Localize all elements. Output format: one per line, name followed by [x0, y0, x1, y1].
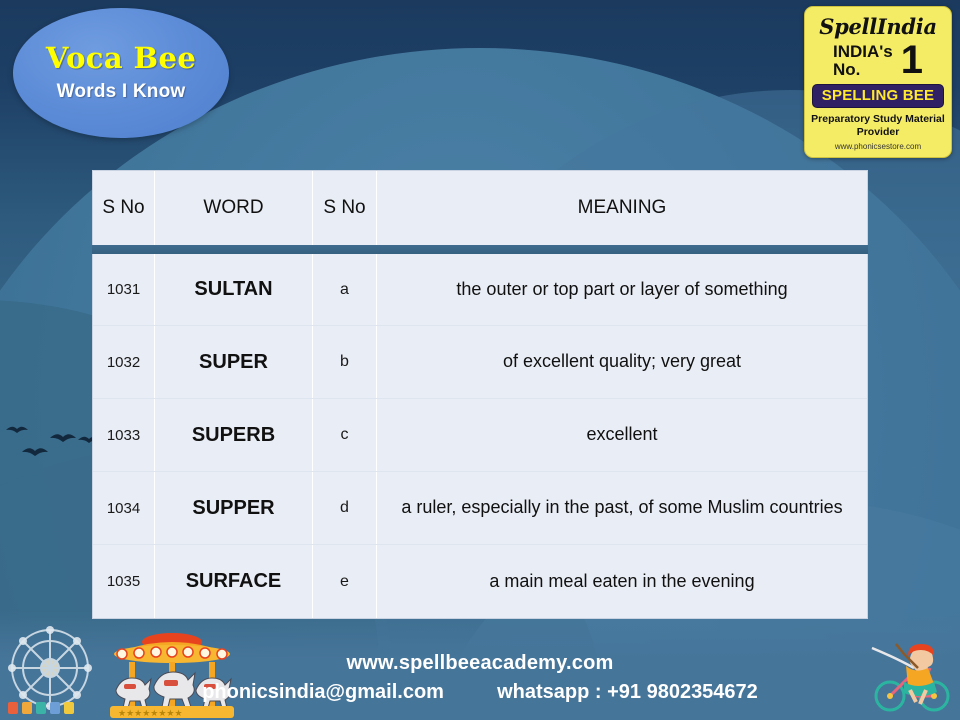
- table-row: 1031 SULTAN a the outer or top part or l…: [93, 254, 867, 326]
- badge-spelling-bee-band: SPELLING BEE: [812, 84, 944, 108]
- footer: www.spellbeeacademy.com phonicsindia@gma…: [0, 652, 960, 704]
- cell-meaning: a main meal eaten in the evening: [377, 545, 867, 618]
- svg-text:★★★★★★★★: ★★★★★★★★: [118, 709, 183, 719]
- badge-rank-number: 1: [901, 43, 923, 78]
- vocabulary-table: S No WORD S No MEANING 1031 SULTAN a the…: [92, 170, 868, 619]
- cell-word: SULTAN: [155, 254, 313, 325]
- table-row: 1034 SUPPER d a ruler, especially in the…: [93, 472, 867, 545]
- page-subtitle: Words I Know: [57, 81, 186, 103]
- cell-word: SURFACE: [155, 545, 313, 618]
- footer-website[interactable]: www.spellbeeacademy.com: [0, 652, 960, 675]
- cell-sno1: 1032: [93, 326, 155, 398]
- table-row: 1033 SUPERB c excellent: [93, 399, 867, 472]
- cell-sno1: 1031: [93, 254, 155, 325]
- table-row: 1035 SURFACE e a main meal eaten in the …: [93, 545, 867, 618]
- table-row: 1032 SUPER b of excellent quality; very …: [93, 326, 867, 399]
- column-header-sno2: S No: [313, 171, 377, 245]
- cell-sno1: 1035: [93, 545, 155, 618]
- badge-prep-text: Preparatory Study Material Provider: [811, 113, 945, 139]
- column-header-word: WORD: [155, 171, 313, 245]
- cell-meaning: of excellent quality; very great: [377, 326, 867, 398]
- badge-url: www.phonicsestore.com: [835, 142, 921, 151]
- cell-meaning: the outer or top part or layer of someth…: [377, 254, 867, 325]
- badge-rank-group: INDIA's No. 1: [810, 43, 946, 79]
- badge-brand-name: SpellIndia: [819, 16, 937, 37]
- slide-canvas: Voca Bee Words I Know SpellIndia INDIA's…: [0, 0, 960, 720]
- cell-meaning: excellent: [377, 399, 867, 471]
- cell-sno2: b: [313, 326, 377, 398]
- footer-contact-line: phonicsindia@gmail.com whatsapp : +91 98…: [0, 681, 960, 704]
- cell-word: SUPERB: [155, 399, 313, 471]
- cell-sno2: d: [313, 472, 377, 544]
- cell-sno1: 1033: [93, 399, 155, 471]
- badge-rank-label: INDIA's No.: [833, 43, 893, 79]
- page-title: Voca Bee: [46, 43, 196, 73]
- badge-indias-text: INDIA's: [833, 43, 893, 61]
- column-header-sno1: S No: [93, 171, 155, 245]
- table-header-row: S No WORD S No MEANING: [92, 170, 868, 245]
- cell-sno1: 1034: [93, 472, 155, 544]
- cell-sno2: c: [313, 399, 377, 471]
- cell-word: SUPPER: [155, 472, 313, 544]
- title-badge: Voca Bee Words I Know: [13, 8, 229, 138]
- cell-sno2: a: [313, 254, 377, 325]
- cell-meaning: a ruler, especially in the past, of some…: [377, 472, 867, 544]
- birds-icon: [4, 412, 104, 472]
- badge-prep-line1: Preparatory Study Material: [811, 113, 945, 126]
- badge-prep-line2: Provider: [811, 126, 945, 139]
- badge-no-text: No.: [833, 61, 893, 79]
- footer-email[interactable]: phonicsindia@gmail.com: [202, 681, 444, 703]
- spellindia-badge: SpellIndia INDIA's No. 1 SPELLING BEE Pr…: [804, 6, 952, 158]
- cell-sno2: e: [313, 545, 377, 618]
- table-separator-bar: [92, 245, 868, 254]
- column-header-meaning: MEANING: [377, 171, 867, 245]
- footer-whatsapp[interactable]: whatsapp : +91 9802354672: [497, 681, 758, 703]
- cell-word: SUPER: [155, 326, 313, 398]
- table-body: 1031 SULTAN a the outer or top part or l…: [92, 254, 868, 619]
